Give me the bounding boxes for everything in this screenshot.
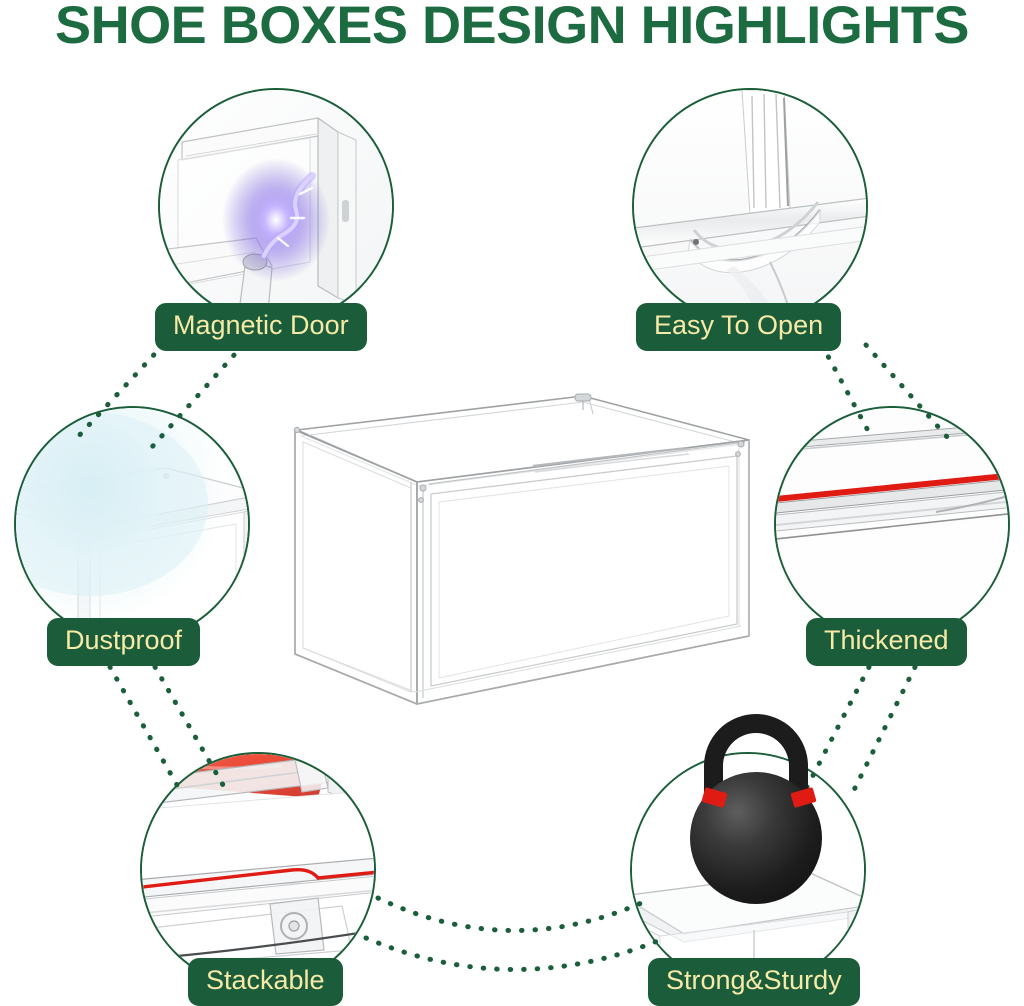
feature-label-thickened[interactable]: Thickened	[806, 618, 967, 666]
stackable-photo	[142, 754, 374, 986]
feature-circle-strong-sturdy	[630, 752, 866, 988]
feature-label-stackable[interactable]: Stackable	[188, 958, 343, 1006]
feature-circle-magnetic-door	[158, 88, 394, 324]
feature-circle-thickened	[774, 406, 1010, 642]
center-product-shoe-box	[283, 386, 757, 708]
feature-label-dustproof[interactable]: Dustproof	[47, 618, 200, 666]
easy-to-open-photo	[634, 90, 866, 322]
feature-label-magnetic-door[interactable]: Magnetic Door	[155, 303, 367, 351]
infographic-canvas: SHOE BOXES DESIGN HIGHLIGHTS	[0, 0, 1024, 997]
feature-circle-dustproof	[14, 406, 250, 642]
feature-circle-easy-to-open	[632, 88, 868, 324]
shoe-box-illustration	[283, 386, 757, 708]
dustproof-sheen-overlay	[16, 408, 248, 640]
page-title: SHOE BOXES DESIGN HIGHLIGHTS	[0, 0, 1024, 54]
magnetic-door-photo	[160, 90, 392, 322]
feature-label-easy-to-open[interactable]: Easy To Open	[636, 303, 841, 351]
kettlebell-icon	[662, 710, 852, 910]
thickened-photo	[776, 408, 1008, 640]
feature-circle-stackable	[140, 752, 376, 988]
feature-label-strong-sturdy[interactable]: Strong&Sturdy	[648, 958, 860, 1006]
